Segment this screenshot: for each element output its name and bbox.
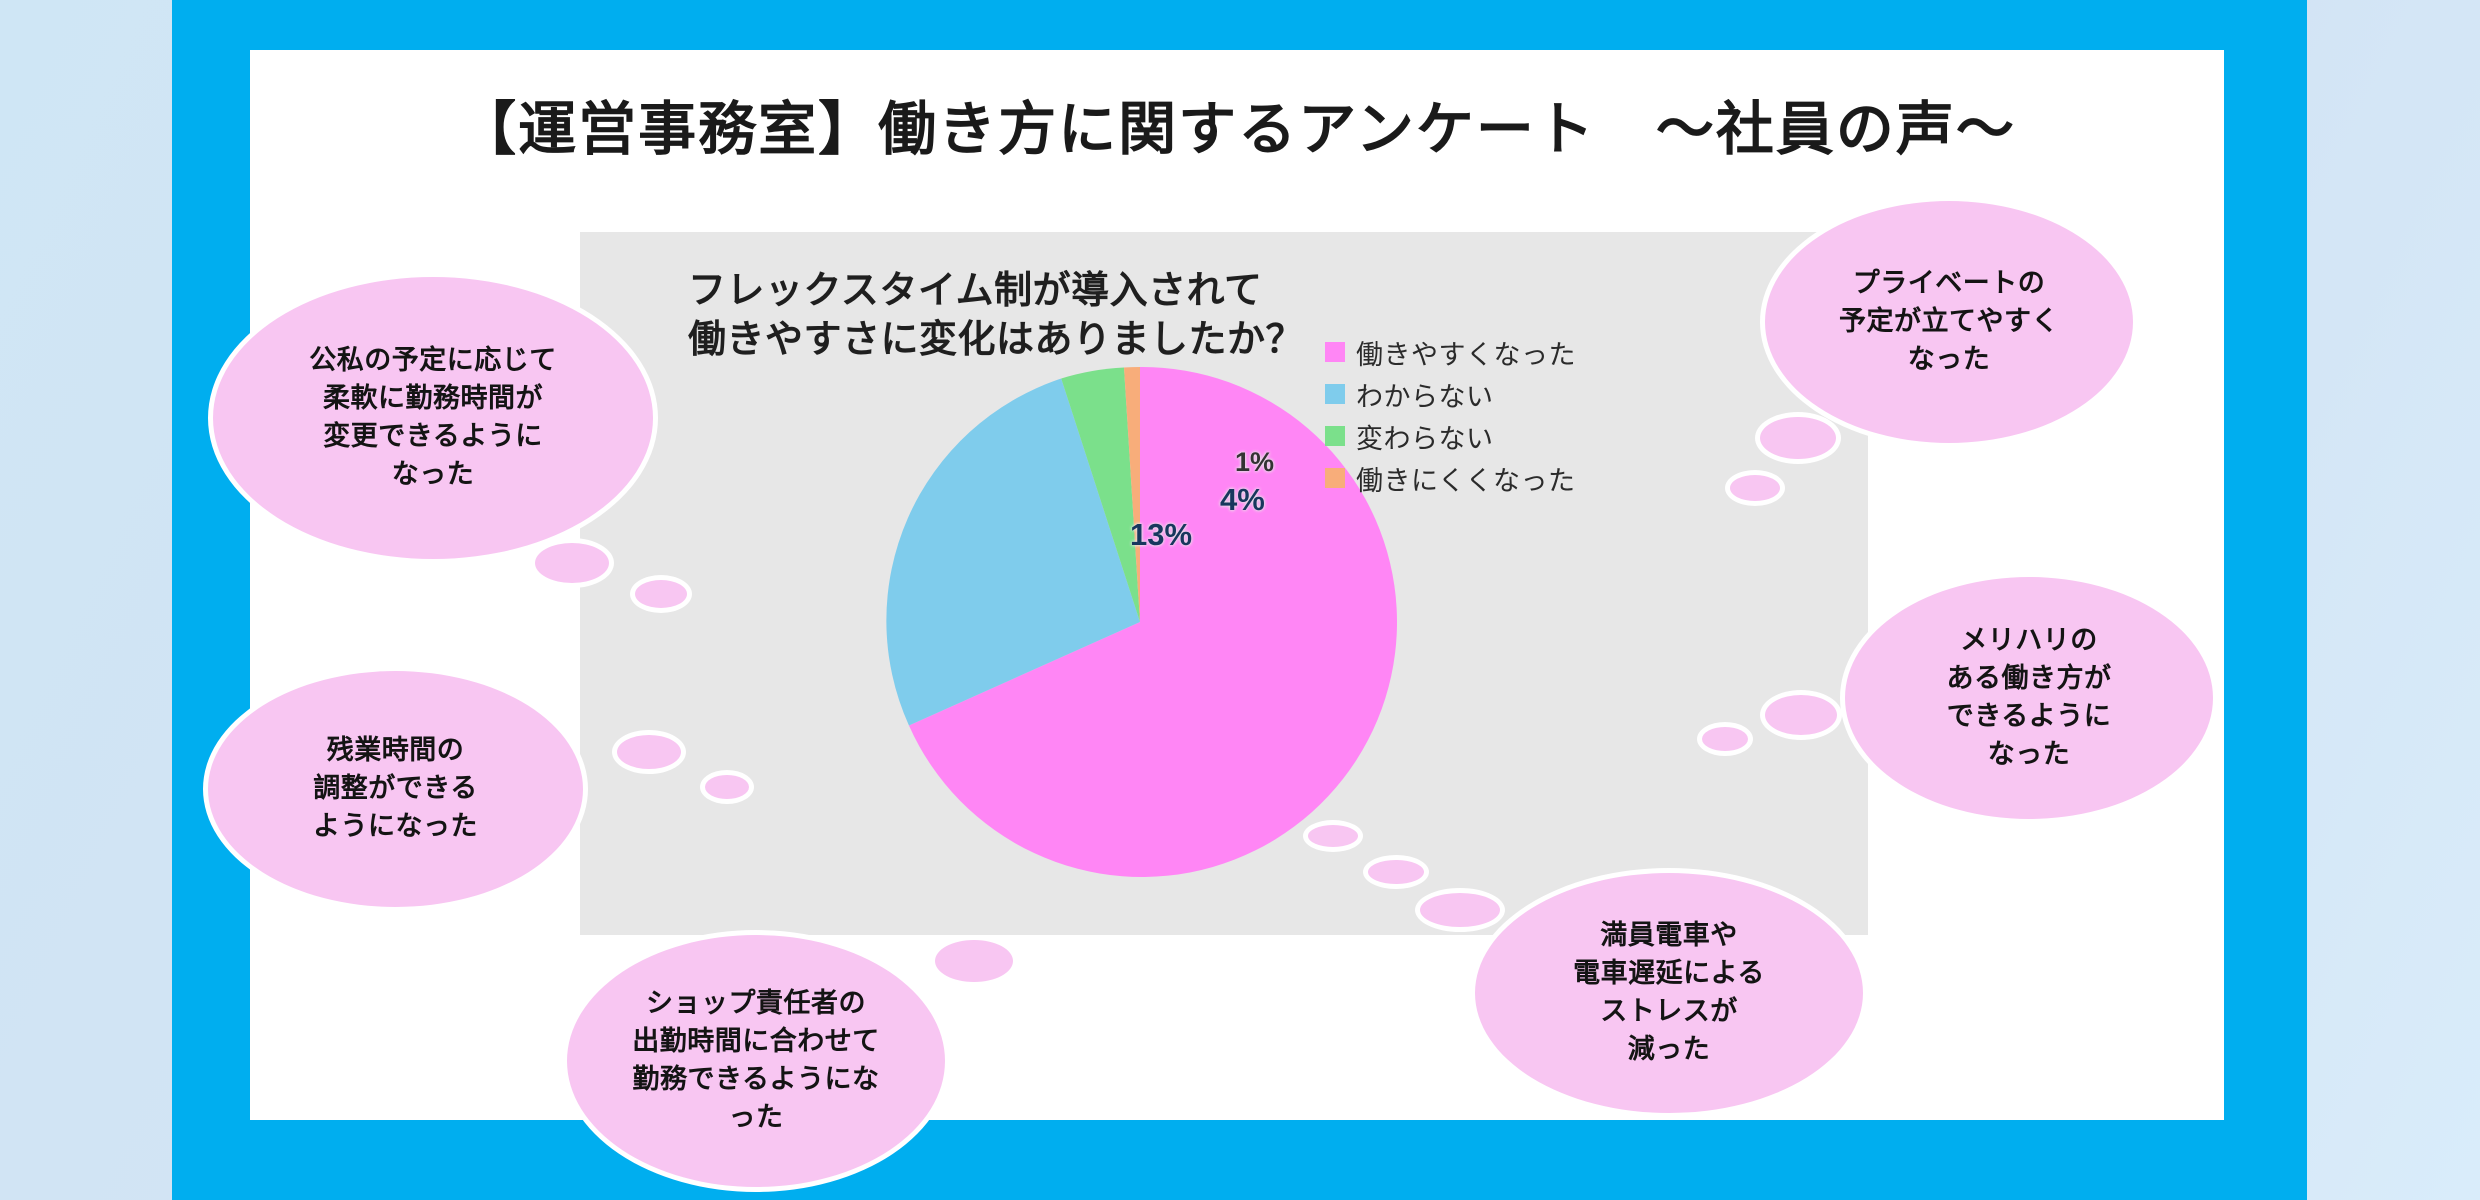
legend-item-kawaranai[interactable]: 変わらない <box>1325 421 1576 451</box>
thought-tail-bubble <box>930 935 1018 987</box>
legend-label: 変わらない <box>1356 417 1494 456</box>
thought-tail-bubble <box>630 575 692 613</box>
thought-tail-bubble <box>1415 888 1505 932</box>
pie-label-kawaranai: 4% <box>1220 482 1265 518</box>
legend-swatch-icon <box>1325 426 1345 446</box>
thought-tail-bubble <box>1725 470 1785 506</box>
thought-tail-bubble <box>1363 855 1429 889</box>
bubble-work-rhythm[interactable]: メリハリの ある働き方が できるように なった <box>1840 572 2218 824</box>
bubble-shop-manager-hours[interactable]: ショップ責任者の 出勤時間に合わせて 勤務できるようにな った <box>562 930 950 1192</box>
legend-label: 働きやすくなった <box>1356 333 1576 372</box>
legend-item-hatarakinikuku[interactable]: 働きにくくなった <box>1325 463 1576 493</box>
pie-chart-panel: フレックスタイム制が導入されて 働きやすさに変化はありましたか？ 13% 4% … <box>580 232 1868 935</box>
thought-tail-bubble <box>700 770 754 804</box>
bubble-text: 公私の予定に応じて 柔軟に勤務時間が 変更できるように なった <box>309 342 557 493</box>
pie-label-wakaranai: 13% <box>1130 517 1192 553</box>
bubble-private-schedule[interactable]: プライベートの 予定が立てやすく なった <box>1760 196 2138 448</box>
chart-title: フレックスタイム制が導入されて 働きやすさに変化はありましたか？ <box>688 267 1388 366</box>
bubble-text: メリハリの ある働き方が できるように なった <box>1947 622 2112 773</box>
legend-swatch-icon <box>1325 468 1345 488</box>
thought-tail-bubble <box>1303 820 1363 852</box>
legend-swatch-icon <box>1325 342 1345 362</box>
bubble-text: 残業時間の 調整ができる ようになった <box>313 732 478 845</box>
bubble-text: プライベートの 予定が立てやすく なった <box>1839 265 2059 378</box>
bubble-text: 満員電車や 電車遅延による ストレスが 減った <box>1573 917 1765 1068</box>
bubble-commute-stress[interactable]: 満員電車や 電車遅延による ストレスが 減った <box>1470 868 1868 1118</box>
legend-swatch-icon <box>1325 384 1345 404</box>
bubble-overtime-adjust[interactable]: 残業時間の 調整ができる ようになった <box>203 666 588 912</box>
pie-chart <box>880 362 1400 882</box>
chart-legend: 働きやすくなった わからない 変わらない 働きにくくなった <box>1325 337 1576 505</box>
bubble-flexible-hours[interactable]: 公私の予定に応じて 柔軟に勤務時間が 変更できるように なった <box>208 272 658 564</box>
pie-label-hatarakinikuku: 1% <box>1235 447 1274 478</box>
legend-label: わからない <box>1356 375 1494 414</box>
page-title: 【運営事務室】働き方に関するアンケート 〜社員の声〜 <box>250 82 2224 166</box>
pie-chart-svg <box>880 362 1400 882</box>
legend-item-wakaranai[interactable]: わからない <box>1325 379 1576 409</box>
thought-tail-bubble <box>1697 722 1753 756</box>
thought-tail-bubble <box>612 730 686 774</box>
thought-tail-bubble <box>1760 690 1842 740</box>
bubble-text: ショップ責任者の 出勤時間に合わせて 勤務できるようにな った <box>632 985 880 1136</box>
thought-tail-bubble <box>1755 412 1841 464</box>
legend-label: 働きにくくなった <box>1356 459 1575 498</box>
legend-item-hatarakiyasuku[interactable]: 働きやすくなった <box>1325 337 1576 367</box>
